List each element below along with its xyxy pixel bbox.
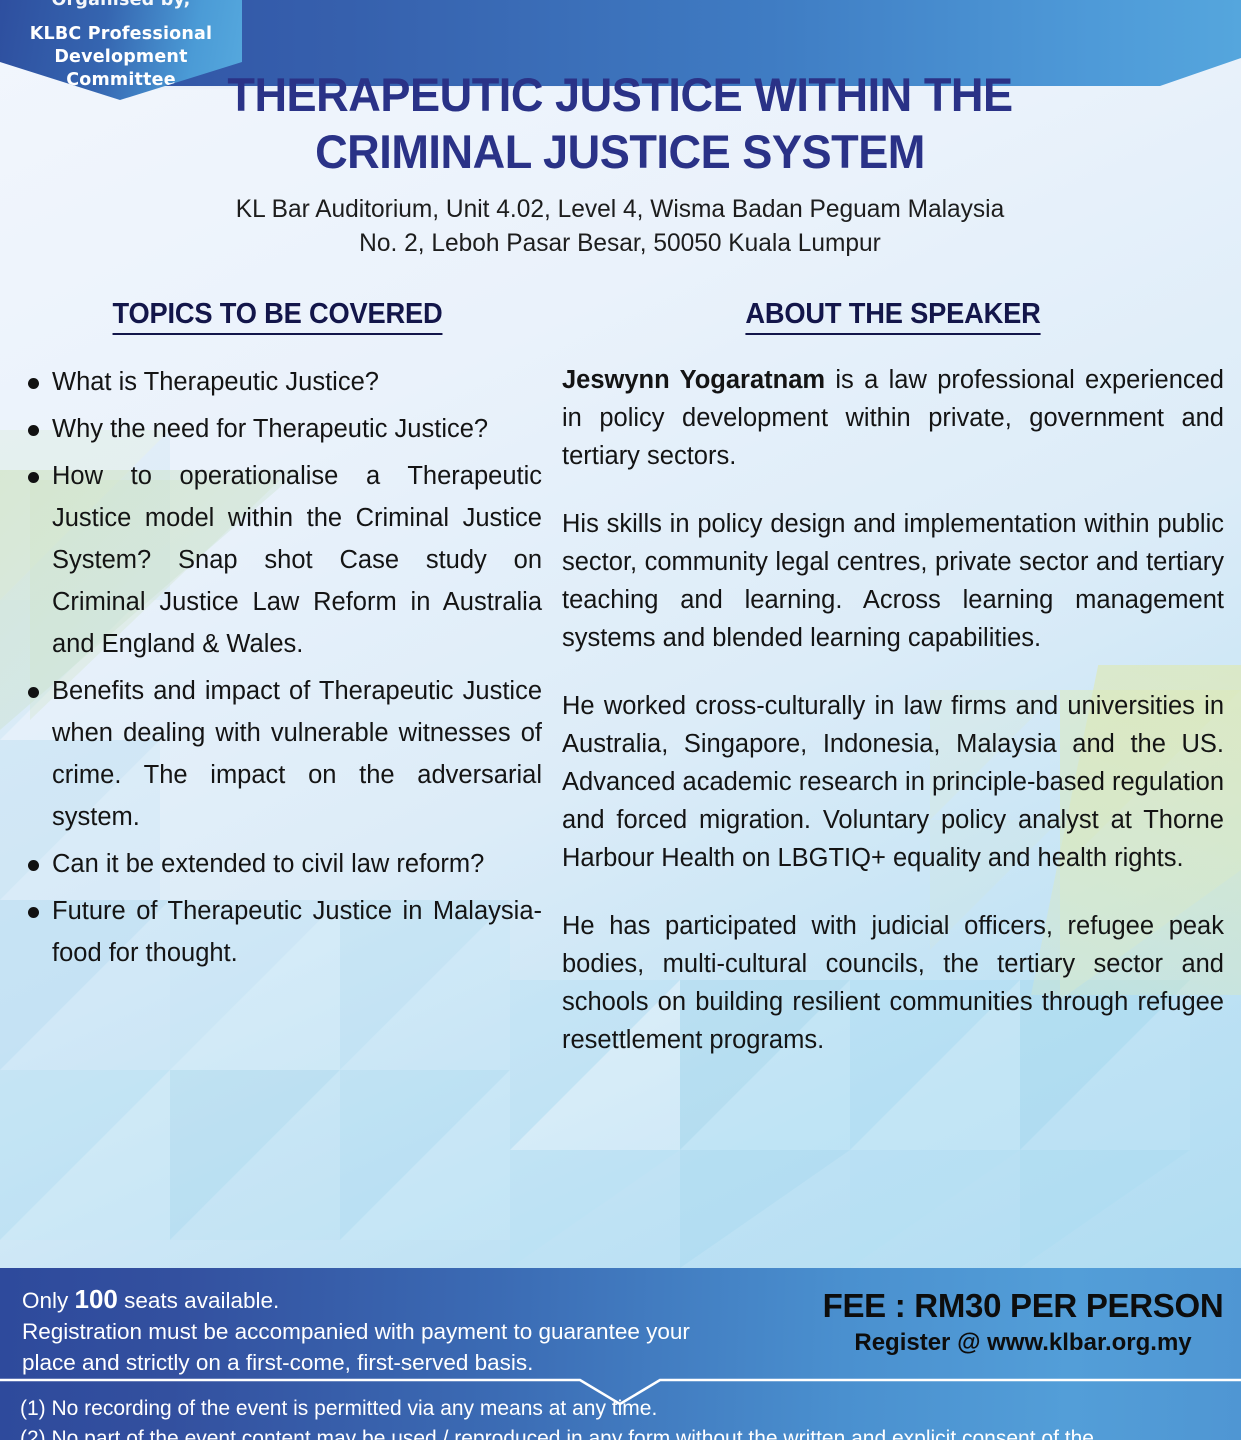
speaker-heading-text: ABOUT THE SPEAKER bbox=[745, 298, 1040, 335]
topic-text: Future of Therapeutic Justice in Malaysi… bbox=[52, 890, 542, 974]
registration-banner: Only 100 seats available. Registration m… bbox=[0, 1268, 1241, 1440]
registration-note-line-2: place and strictly on a first-come, firs… bbox=[22, 1347, 812, 1378]
list-item: Benefits and impact of Therapeutic Justi… bbox=[14, 670, 542, 838]
topics-column: TOPICS TO BE COVERED What is Therapeutic… bbox=[14, 298, 542, 979]
topic-text: Benefits and impact of Therapeutic Justi… bbox=[52, 670, 542, 838]
list-item: Future of Therapeutic Justice in Malaysi… bbox=[14, 890, 542, 974]
organiser-badge-line-clipped: Organised by, bbox=[0, 0, 242, 12]
list-item: How to operationalise a Therapeutic Just… bbox=[14, 455, 542, 665]
list-item: Can it be extended to civil law reform? bbox=[14, 843, 542, 885]
registration-note-line-1: Registration must be accompanied with pa… bbox=[22, 1316, 812, 1347]
topics-heading-text: TOPICS TO BE COVERED bbox=[113, 298, 443, 335]
poster-canvas: Organised by, KLBC Professional Developm… bbox=[0, 0, 1241, 1440]
list-item: What is Therapeutic Justice? bbox=[14, 361, 542, 403]
speaker-heading: ABOUT THE SPEAKER bbox=[562, 298, 1224, 335]
organiser-badge-line-1: KLBC Professional bbox=[0, 23, 242, 46]
topics-list: What is Therapeutic Justice? Why the nee… bbox=[14, 361, 542, 974]
event-title-line-2: CRIMINAL JUSTICE SYSTEM bbox=[159, 123, 1081, 180]
venue-address: KL Bar Auditorium, Unit 4.02, Level 4, W… bbox=[140, 192, 1100, 260]
topics-heading: TOPICS TO BE COVERED bbox=[14, 298, 542, 335]
speaker-bio-paragraph-3: He worked cross-culturally in law firms … bbox=[562, 687, 1224, 877]
venue-address-line-2: No. 2, Leboh Pasar Besar, 50050 Kuala Lu… bbox=[150, 226, 1091, 260]
event-title-line-1: THERAPEUTIC JUSTICE WITHIN THE bbox=[159, 66, 1081, 123]
seats-count: 100 bbox=[75, 1284, 118, 1314]
list-item: Why the need for Therapeutic Justice? bbox=[14, 408, 542, 450]
seats-suffix: seats available. bbox=[118, 1288, 279, 1313]
topic-text: How to operationalise a Therapeutic Just… bbox=[52, 455, 542, 665]
speaker-bio-paragraph-2: His skills in policy design and implemen… bbox=[562, 505, 1224, 657]
speaker-bio-paragraph-4: He has participated with judicial office… bbox=[562, 907, 1224, 1059]
terms-line-2: (2) No part of the event content may be … bbox=[20, 1424, 1230, 1440]
fee-amount: FEE : RM30 PER PERSON bbox=[818, 1286, 1228, 1326]
speaker-bio: Jeswynn Yogaratnam is a law professional… bbox=[562, 361, 1224, 1059]
topic-text: What is Therapeutic Justice? bbox=[52, 361, 542, 403]
speaker-column: ABOUT THE SPEAKER Jeswynn Yogaratnam is … bbox=[562, 298, 1224, 1059]
seats-availability: Only 100 seats available. bbox=[22, 1284, 812, 1316]
registration-details: Only 100 seats available. Registration m… bbox=[22, 1284, 812, 1378]
topic-text: Why the need for Therapeutic Justice? bbox=[52, 408, 542, 450]
speaker-name: Jeswynn Yogaratnam bbox=[562, 366, 825, 394]
topic-text: Can it be extended to civil law reform? bbox=[52, 843, 542, 885]
seats-prefix: Only bbox=[22, 1288, 75, 1313]
venue-address-line-1: KL Bar Auditorium, Unit 4.02, Level 4, W… bbox=[150, 192, 1091, 226]
terms-list: (1) No recording of the event is permitt… bbox=[20, 1394, 1230, 1440]
event-title: THERAPEUTIC JUSTICE WITHIN THE CRIMINAL … bbox=[140, 66, 1100, 180]
terms-line-1: (1) No recording of the event is permitt… bbox=[20, 1394, 1230, 1424]
register-url[interactable]: Register @ www.klbar.org.my bbox=[818, 1326, 1228, 1360]
speaker-bio-paragraph-1: Jeswynn Yogaratnam is a law professional… bbox=[562, 361, 1224, 475]
fee-block: FEE : RM30 PER PERSON Register @ www.klb… bbox=[818, 1286, 1228, 1360]
